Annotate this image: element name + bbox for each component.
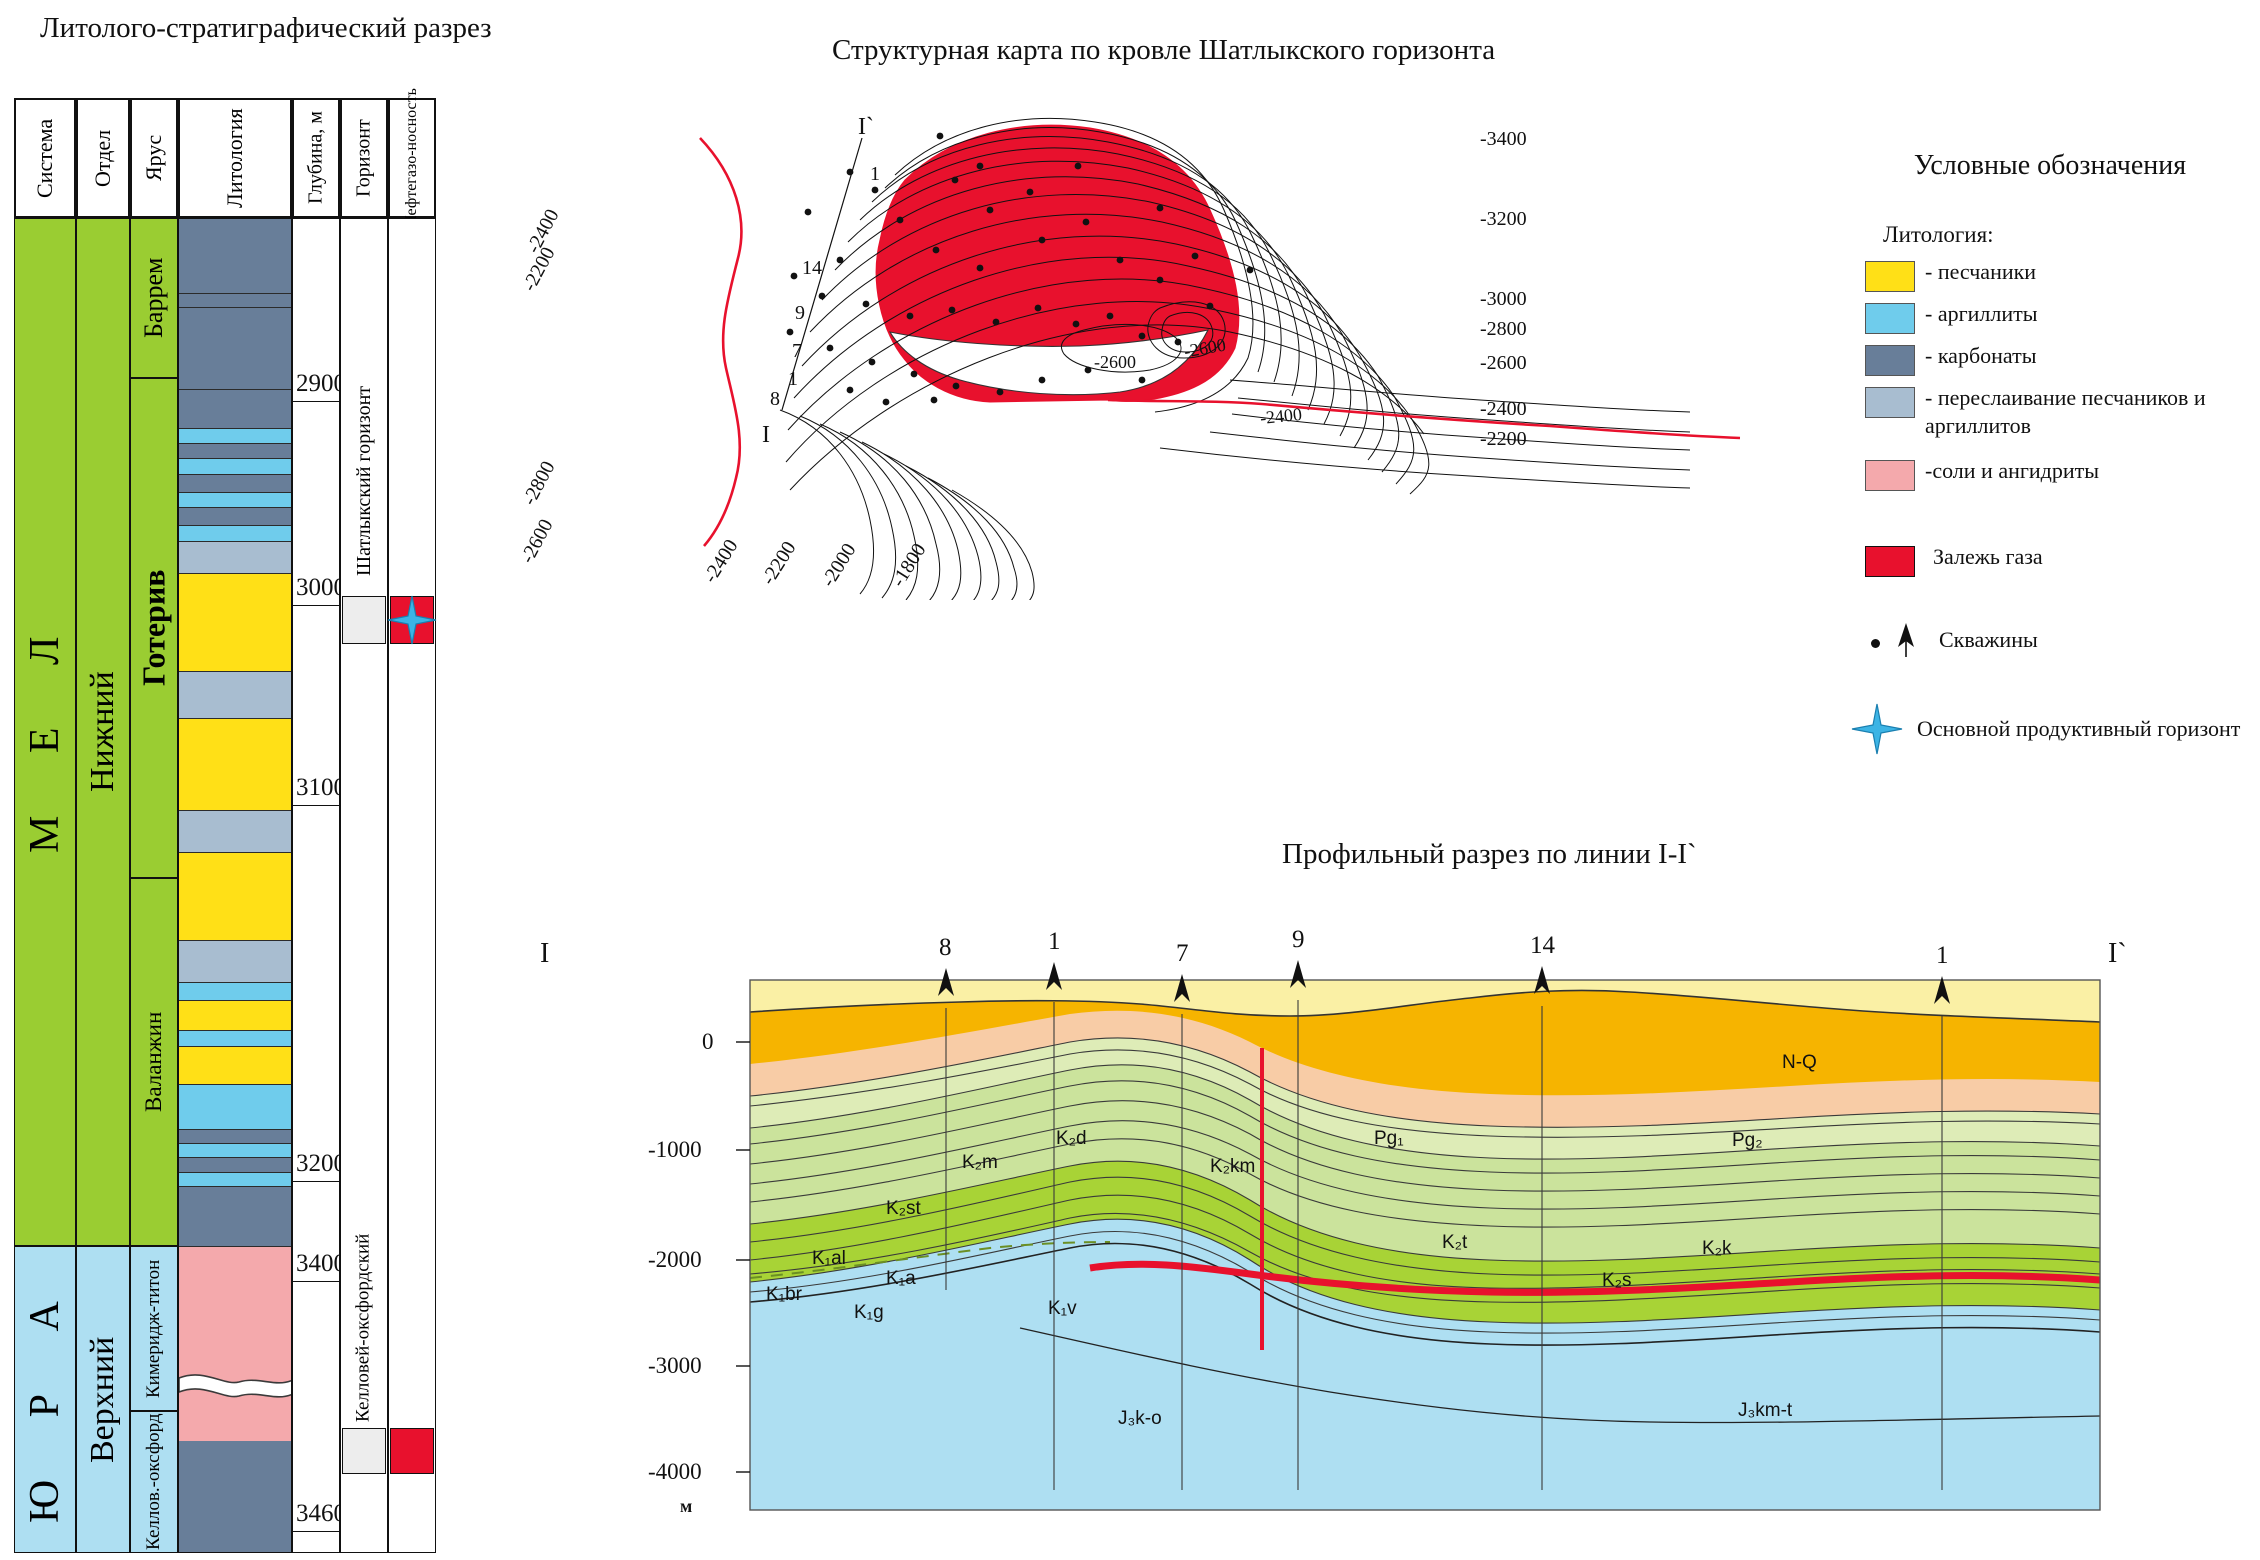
contour-label-left-2600: -2600 <box>516 515 558 567</box>
legend-item-wells: Скважины <box>1865 623 2255 657</box>
legend-item-carbonate: - карбонаты <box>1865 342 2255 376</box>
contour-label-inner-2400: -2400 <box>1259 404 1303 429</box>
wells-icon-group <box>1865 623 1935 657</box>
depth-tick: 3460 <box>296 1500 346 1528</box>
header-depth-label: Глубина, м <box>294 100 338 216</box>
header-department-label: Отдел <box>78 100 128 216</box>
gas-deposit-callovian <box>390 1428 434 1474</box>
lith-band <box>179 1031 291 1047</box>
header-system: Система <box>14 98 76 218</box>
formation-label-K1a: K₁a <box>886 1268 916 1290</box>
oilgas-column <box>388 218 436 1553</box>
legend-panel: Условные обозначения Литология: - песчан… <box>1845 150 2255 765</box>
horizon-callovian-label: Келловей-оксфордский <box>342 1228 386 1428</box>
header-lithology-label: Литология <box>180 100 290 216</box>
lith-band <box>179 475 291 493</box>
contour-label-2200: -2200 <box>1480 428 1527 451</box>
horizon-callovian-marker <box>342 1428 386 1474</box>
lith-band <box>179 294 291 308</box>
legend-item-sandstone: - песчаники <box>1865 258 2255 292</box>
contour-label-2400: -2400 <box>1480 398 1527 421</box>
lith-band <box>179 1001 291 1031</box>
stage-callovian-oxfordian: Келлов.-оксфорд <box>130 1411 178 1553</box>
stage-valanginian: Валанжин <box>130 878 178 1246</box>
lith-band <box>179 719 291 811</box>
well-arrow-icon <box>1895 623 1917 657</box>
formation-label-J3ko: J₃k-o <box>1118 1408 1162 1430</box>
formation-label-Pg1: Pg₁ <box>1374 1128 1404 1150</box>
map-well-label-7: 7 <box>792 340 802 363</box>
formation-label-K2t: K₂t <box>1442 1232 1467 1254</box>
header-lithology: Литология <box>178 98 292 218</box>
profile-endpoint-start: I <box>540 938 549 970</box>
depth-tick-line <box>292 1531 340 1532</box>
profile-well-9: 9 <box>1292 926 1305 954</box>
lith-band <box>179 1144 291 1158</box>
header-horizon: Горизонт <box>340 98 388 218</box>
lith-band <box>179 983 291 1001</box>
depth-tick: 3100 <box>296 774 346 802</box>
y-axis-ticks <box>736 1042 750 1472</box>
horizon-shatlyk-marker <box>342 596 386 644</box>
contour-label-3200: -3200 <box>1480 208 1527 231</box>
y-tick-0: 0 <box>702 1029 714 1055</box>
legend-subtitle: Литология: <box>1883 222 2255 248</box>
lith-band <box>179 811 291 853</box>
salt-lens <box>179 1364 292 1404</box>
depth-tick-line <box>292 1181 340 1182</box>
lith-band <box>179 459 291 475</box>
contour-label-2800: -2800 <box>1480 318 1527 341</box>
profile-well-1a: 1 <box>1048 928 1061 956</box>
lith-band <box>179 444 291 459</box>
stage-kimmeridgian-tithonian-label: Кимеридж-титон <box>131 1247 177 1410</box>
strat-title: Литолого-стратиграфический разрез <box>40 12 492 45</box>
legend-gas-label: Залежь газа <box>1933 543 2043 571</box>
profile-svg <box>690 930 2120 1540</box>
lith-band <box>179 390 291 429</box>
depth-tick-line <box>292 805 340 806</box>
sandstone-swatch <box>1865 261 1915 292</box>
depth-tick: 3400 <box>296 1250 346 1278</box>
stage-hauterivian-label: Готерив <box>131 379 177 877</box>
legend-label: - переслаивание песчаников и аргиллитов <box>1925 384 2245 439</box>
header-stage: Ярус <box>130 98 178 218</box>
lith-band <box>179 853 291 941</box>
lith-band <box>179 1187 291 1247</box>
productive-horizon-star-icon <box>386 594 438 646</box>
header-oilgas-label: Нефтегазо-носность <box>390 100 434 216</box>
map-well-label-1b: 1 <box>788 368 798 391</box>
carbonate-swatch <box>1865 345 1915 376</box>
header-stage-label: Ярус <box>132 100 176 216</box>
gas-swatch <box>1865 546 1915 577</box>
stage-barremian: Баррем <box>130 218 178 378</box>
formation-label-NQ: N-Q <box>1782 1052 1817 1074</box>
header-system-label: Система <box>16 100 74 216</box>
lith-band <box>179 1047 291 1085</box>
formation-label-K1al: K₁al <box>812 1248 846 1270</box>
lith-band <box>179 526 291 542</box>
lith-band <box>179 1085 291 1130</box>
depth-tick-line <box>292 605 340 606</box>
legend-item-productive: Основной продуктивный горизонт <box>1849 701 2255 757</box>
legend-item-mudstone: - аргиллиты <box>1865 300 2255 334</box>
formation-label-K2st: K₂st <box>886 1198 921 1220</box>
stage-callovian-oxfordian-label: Келлов.-оксфорд <box>131 1412 177 1552</box>
profile-well-1b: 1 <box>1936 942 1949 970</box>
stage-valanginian-label: Валанжин <box>131 879 177 1245</box>
lith-band <box>179 429 291 444</box>
system-jurassic-label: Ю Р А <box>15 1247 75 1552</box>
formation-label-K1v: K₁v <box>1048 1298 1077 1320</box>
stage-kimmeridgian-tithonian: Кимеридж-титон <box>130 1246 178 1411</box>
system-cretaceous: М Е Л <box>14 218 76 1246</box>
header-oilgas: Нефтегазо-носность <box>388 98 436 218</box>
mudstone-swatch <box>1865 303 1915 334</box>
legend-productive-label: Основной продуктивный горизонт <box>1917 715 2240 743</box>
system-cretaceous-label: М Е Л <box>15 219 75 1245</box>
depth-tick: 3200 <box>296 1150 346 1178</box>
well-dot-icon <box>1871 639 1880 648</box>
lith-band <box>179 1130 291 1144</box>
lith-band <box>179 308 291 390</box>
profile-well-8: 8 <box>939 934 952 962</box>
department-lower-label: Нижний <box>77 219 129 1245</box>
lith-band <box>179 1441 291 1553</box>
contour-label-3000: -3000 <box>1480 288 1527 311</box>
star-icon <box>1849 701 1905 757</box>
map-well-label-9: 9 <box>795 302 805 325</box>
lithology-column <box>178 218 292 1553</box>
section-label-end: I` <box>858 114 874 141</box>
legend-title: Условные обозначения <box>1845 150 2255 182</box>
stage-hauterivian: Готерив <box>130 378 178 878</box>
header-horizon-label: Горизонт <box>342 100 386 216</box>
formation-label-Pg2: Pg₂ <box>1732 1130 1763 1152</box>
horizon-shatlyk: Шатлыкский горизонт <box>342 366 386 596</box>
formation-label-K2d: K₂d <box>1056 1128 1087 1150</box>
map-title: Структурная карта по кровле Шатлыкского … <box>832 34 1495 67</box>
map-well-label-1: 1 <box>870 163 880 186</box>
contour-label-left-2200: -2200 <box>518 243 560 295</box>
map-well-label-14: 14 <box>802 257 822 280</box>
system-jurassic: Ю Р А <box>14 1246 76 1553</box>
contour-label-2600: -2600 <box>1480 352 1527 375</box>
depth-tick: 3000 <box>296 574 346 602</box>
license-boundary <box>700 138 741 546</box>
structural-map: I I` 1 14 9 7 1 8 -3400 -3200 -3000 -280… <box>690 80 1810 600</box>
stratigraphic-column: Система Отдел Ярус Литология Глубина, м … <box>14 98 419 1553</box>
lith-band <box>179 941 291 983</box>
profile-section: 0 -1000 -2000 -3000 -4000 м I I` 8 1 7 9… <box>690 930 2120 1540</box>
lith-band <box>179 1158 291 1173</box>
formation-label-J3kmt: J₃km-t <box>1738 1400 1792 1422</box>
horizon-shatlyk-label: Шатлыкский горизонт <box>342 366 386 596</box>
profile-well-7: 7 <box>1176 940 1189 968</box>
lith-band <box>179 574 291 672</box>
legend-item-interbedded: - переслаивание песчаников и аргиллитов <box>1865 384 2255 439</box>
department-upper-label: Верхний <box>77 1247 129 1552</box>
contour-label-inner-2600b: -2600 <box>1094 352 1136 373</box>
formation-label-K2m: K₂m <box>962 1152 998 1174</box>
header-department: Отдел <box>76 98 130 218</box>
y-axis-unit: м <box>680 1496 692 1517</box>
section-label-start: I <box>762 422 770 449</box>
contour-label-left-2800: -2800 <box>518 457 560 509</box>
profile-title: Профильный разрез по линии I-I` <box>1282 838 1697 871</box>
department-lower: Нижний <box>76 218 130 1246</box>
y-tick-4000: -4000 <box>648 1459 702 1485</box>
horizon-callovian-oxfordian: Келловей-оксфордский <box>342 1228 386 1428</box>
legend-item-gas: Залежь газа <box>1865 543 2255 577</box>
y-tick-2000: -2000 <box>648 1247 702 1273</box>
department-upper: Верхний <box>76 1246 130 1553</box>
license-boundary-right <box>1108 400 1740 438</box>
lith-band <box>179 493 291 508</box>
stage-barremian-label: Баррем <box>131 219 177 377</box>
legend-label: - песчаники <box>1925 258 2036 286</box>
formation-label-K2km: K₂km <box>1210 1156 1255 1178</box>
lith-band <box>179 1173 291 1187</box>
legend-item-salt: -соли и ангидриты <box>1865 457 2255 491</box>
lith-band-salt <box>179 1247 291 1441</box>
formation-label-K2s: K₂s <box>1602 1270 1632 1292</box>
lith-band <box>179 542 291 574</box>
legend-label: - аргиллиты <box>1925 300 2038 328</box>
formation-label-K1br: K₁br <box>766 1284 802 1306</box>
structural-map-svg <box>690 80 1810 600</box>
salt-swatch <box>1865 460 1915 491</box>
header-depth: Глубина, м <box>292 98 340 218</box>
lith-band <box>179 672 291 719</box>
interbedded-swatch <box>1865 387 1915 418</box>
formation-label-K2k: K₂k <box>1702 1238 1732 1260</box>
legend-wells-label: Скважины <box>1939 626 2038 654</box>
depth-tick-line <box>292 401 340 402</box>
depth-column <box>292 218 340 1553</box>
profile-endpoint-end: I` <box>2108 938 2127 970</box>
formation-label-K1g: K₁g <box>854 1302 884 1324</box>
legend-label: - карбонаты <box>1925 342 2037 370</box>
y-tick-1000: -1000 <box>648 1137 702 1163</box>
depth-tick: 2900 <box>296 370 346 398</box>
depth-tick-line <box>292 1281 340 1282</box>
legend-label: -соли и ангидриты <box>1925 457 2099 485</box>
map-well-label-8: 8 <box>770 388 780 411</box>
y-tick-3000: -3000 <box>648 1353 702 1379</box>
lith-band <box>179 508 291 526</box>
contour-label-3400: -3400 <box>1480 128 1527 151</box>
profile-well-14: 14 <box>1530 932 1555 960</box>
lith-band <box>179 219 291 294</box>
